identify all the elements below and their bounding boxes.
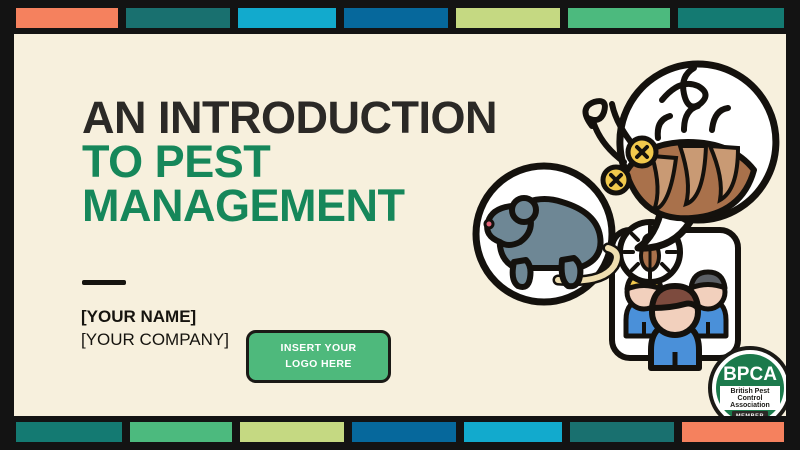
title-line-2: TO PEST [82, 140, 497, 184]
bottom-strip-segment-mint-green [128, 420, 234, 444]
bottom-strip-segment-coral [680, 420, 786, 444]
bottom-strip-segment-lime [238, 420, 346, 444]
byline: [YOUR NAME] [YOUR COMPANY] [81, 306, 229, 351]
bpca-line-2: Control [738, 395, 763, 402]
logo-button-line-2: LOGO HERE [285, 357, 352, 372]
bottom-strip-segment-pine-teal [14, 420, 124, 444]
bpca-line-1: British Pest [731, 388, 771, 395]
bpca-line-3: Association [730, 402, 770, 409]
bpca-member-badge: BPCA British Pest Control Association ME… [708, 346, 786, 416]
bottom-strip-segment-ocean-blue [350, 420, 458, 444]
byline-company: [YOUR COMPANY] [81, 329, 229, 352]
bpca-member-label: MEMBER [736, 414, 764, 417]
logo-button-line-1: INSERT YOUR [281, 341, 357, 356]
bottom-strip-segment-cyan [462, 420, 564, 444]
byline-name: [YOUR NAME] [81, 306, 229, 329]
top-color-strip [0, 6, 800, 30]
insert-logo-button[interactable]: INSERT YOUR LOGO HERE [246, 330, 391, 383]
top-strip-segment-mint-green [566, 6, 672, 30]
title-line-1: AN INTRODUCTION [82, 96, 497, 140]
top-strip-segment-deep-teal [124, 6, 232, 30]
bottom-strip-segment-deep-teal [568, 420, 676, 444]
top-strip-segment-cyan [236, 6, 338, 30]
top-strip-segment-ocean-blue [342, 6, 450, 30]
top-strip-segment-lime [454, 6, 562, 30]
title-line-3: MANAGEMENT [82, 184, 497, 228]
title-divider-rule [82, 280, 126, 285]
slide-stage: AN INTRODUCTION TO PEST MANAGEMENT [YOUR… [14, 34, 786, 416]
slide-canvas: AN INTRODUCTION TO PEST MANAGEMENT [YOUR… [0, 0, 800, 450]
top-strip-segment-coral [14, 6, 120, 30]
bpca-acronym: BPCA [723, 364, 777, 385]
bottom-color-strip [0, 420, 800, 444]
page-title: AN INTRODUCTION TO PEST MANAGEMENT [82, 96, 497, 228]
rat-illustration [476, 166, 617, 302]
top-strip-segment-pine-teal [676, 6, 786, 30]
